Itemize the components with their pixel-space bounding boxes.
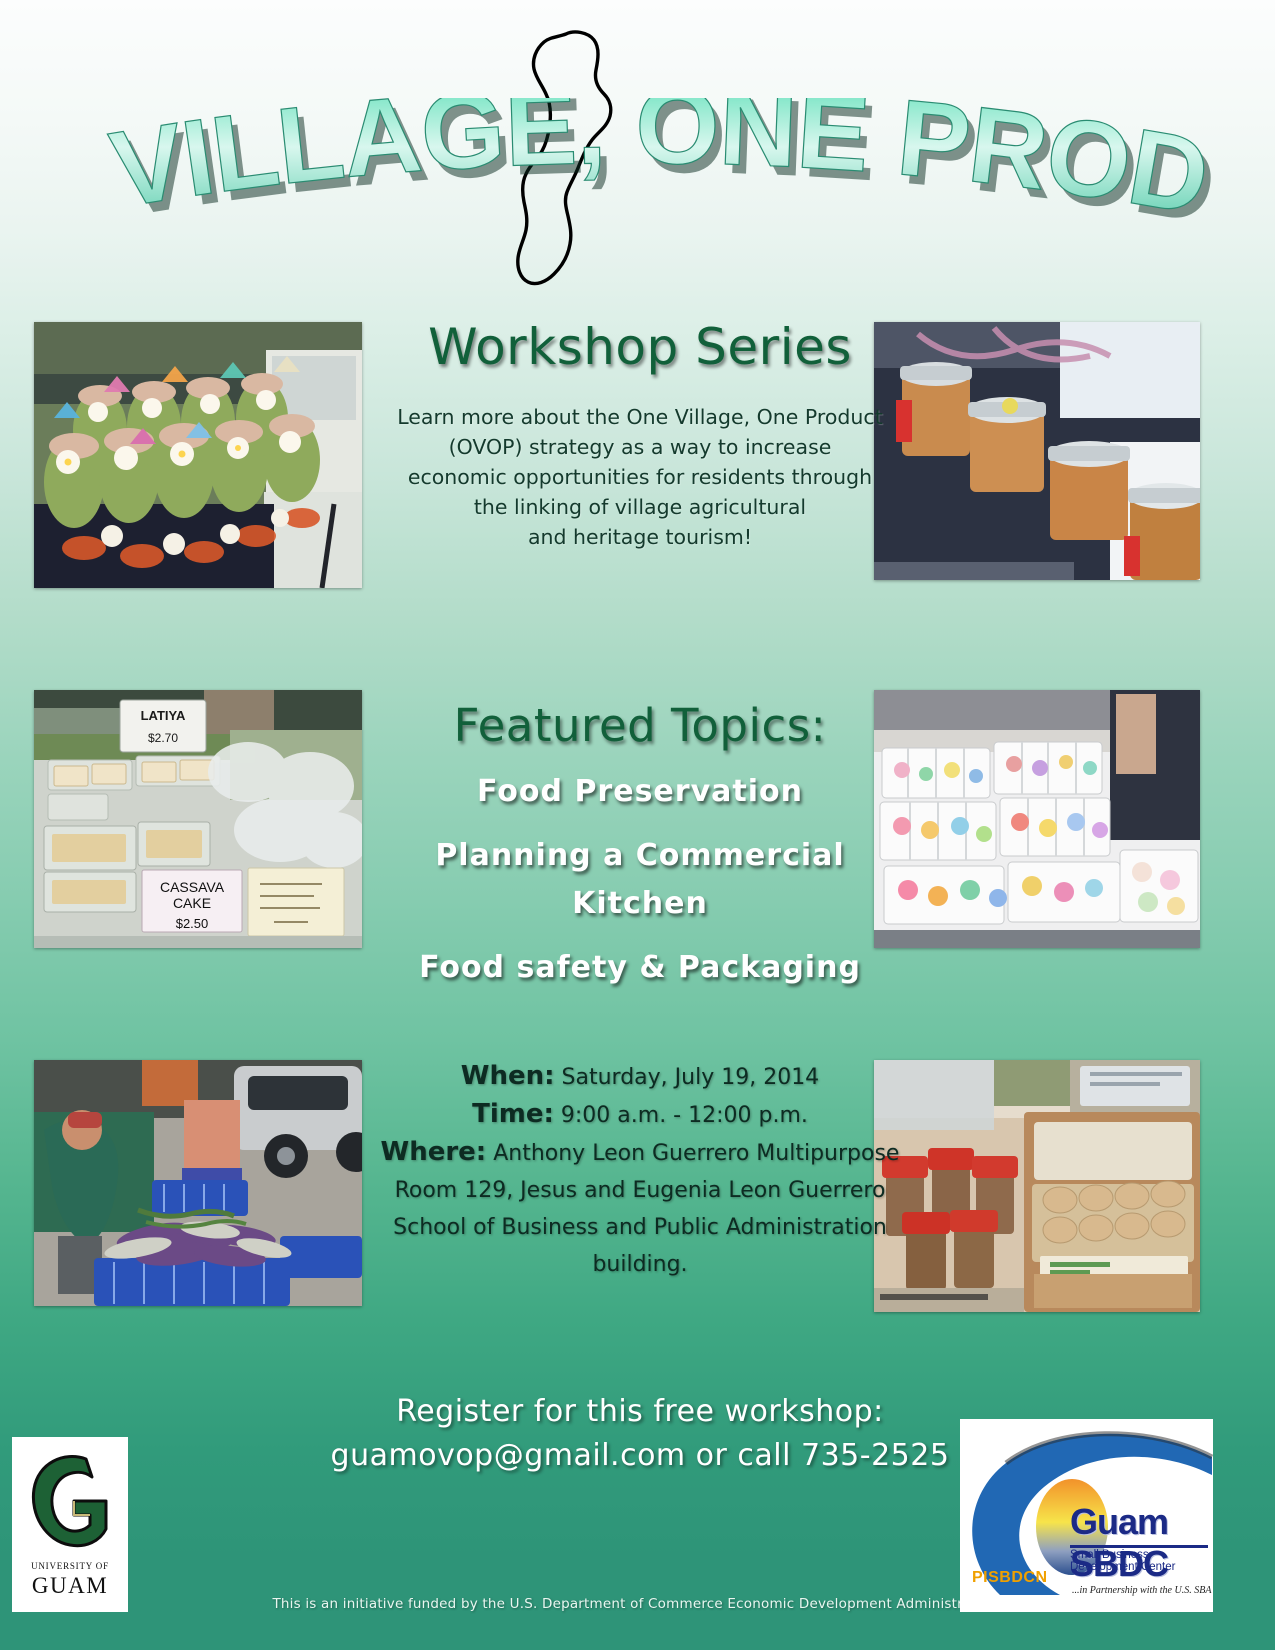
photo-crafts-baskets [874, 690, 1200, 948]
featured-topics-heading: Featured Topics: [370, 700, 910, 752]
where-value-line: School of Business and Public Administra… [370, 1209, 910, 1246]
workshop-section: Workshop Series Learn more about the One… [370, 318, 910, 552]
sbdc-divider [1070, 1545, 1208, 1548]
where-value-line: Room 129, Jesus and Eugenia Leon Guerrer… [370, 1172, 910, 1209]
sbdc-subtitle: Small Business Development Center [1070, 1549, 1213, 1573]
register-section: Register for this free workshop: guamovo… [300, 1390, 980, 1478]
sbdc-partnership: ...in Partnership with the U.S. SBA [1072, 1585, 1212, 1596]
uog-line-1: UNIVERSITY OF [12, 1561, 128, 1571]
workshop-description: Learn more about the One Village, One Pr… [370, 402, 910, 552]
sign-cassava-line2: CAKE [173, 895, 211, 911]
topic-item: Food Preservation [370, 768, 910, 816]
uog-g-monogram-icon [24, 1449, 116, 1559]
photo-coconut-drinks [34, 322, 362, 588]
sign-latiya-label: LATIYA [141, 708, 186, 723]
when-value: Saturday, July 19, 2014 [562, 1065, 820, 1090]
sign-latiya-price: $2.70 [148, 731, 178, 745]
description-line: economic opportunities for residents thr… [370, 462, 910, 492]
topic-item: Planning a Commercial Kitchen [370, 832, 910, 928]
where-value-line: building. [370, 1246, 910, 1283]
photo-eggplant-market [34, 1060, 362, 1306]
where-value-line: Anthony Leon Guerrero Multipurpose [493, 1141, 899, 1166]
detail-time: Time: 9:00 a.m. - 12:00 p.m. [370, 1096, 910, 1134]
sbdc-network-label: PISBDCN [972, 1569, 1048, 1587]
time-value: 9:00 a.m. - 12:00 p.m. [561, 1103, 808, 1128]
photo-eggs-chili-jars [874, 1060, 1200, 1312]
title-zone: ONE VILLAGE, ONE PRODUCT ONE VILLAGE, ON… [0, 20, 1275, 300]
guam-sbdc-logo: Guam SBDC Small Business Development Cen… [960, 1419, 1213, 1612]
poster-title: ONE VILLAGE, ONE PRODUCT ONE VILLAGE, ON… [0, 98, 1275, 258]
sign-cassava-price: $2.50 [176, 916, 209, 931]
uog-line-2: GUAM [12, 1573, 128, 1599]
time-label: Time: [472, 1099, 554, 1129]
workshop-heading: Workshop Series [370, 318, 910, 376]
where-label: Where: [381, 1137, 487, 1167]
poster-canvas: ONE VILLAGE, ONE PRODUCT ONE VILLAGE, ON… [0, 0, 1275, 1650]
topic-item: Food safety & Packaging [370, 944, 910, 992]
register-line-2[interactable]: guamovop@gmail.com or call 735-2525 [300, 1434, 980, 1478]
description-line: and heritage tourism! [370, 522, 910, 552]
register-line-1: Register for this free workshop: [300, 1390, 980, 1434]
detail-where: Where: Anthony Leon Guerrero Multipurpos… [370, 1134, 910, 1283]
event-details-section: When: Saturday, July 19, 2014 Time: 9:00… [370, 1058, 910, 1283]
when-label: When: [461, 1061, 555, 1091]
sign-cassava-line1: CASSAVA [160, 879, 225, 895]
description-line: the linking of village agricultural [370, 492, 910, 522]
description-line: Learn more about the One Village, One Pr… [370, 402, 910, 432]
description-line: (OVOP) strategy as a way to increase [370, 432, 910, 462]
featured-topics-section: Featured Topics: Food Preservation Plann… [370, 700, 910, 992]
photo-jars-preserves [874, 322, 1200, 580]
photo-latiya-cassava: LATIYA $2.70 [34, 690, 362, 948]
detail-when: When: Saturday, July 19, 2014 [370, 1058, 910, 1096]
university-of-guam-logo: UNIVERSITY OF GUAM [12, 1437, 128, 1612]
